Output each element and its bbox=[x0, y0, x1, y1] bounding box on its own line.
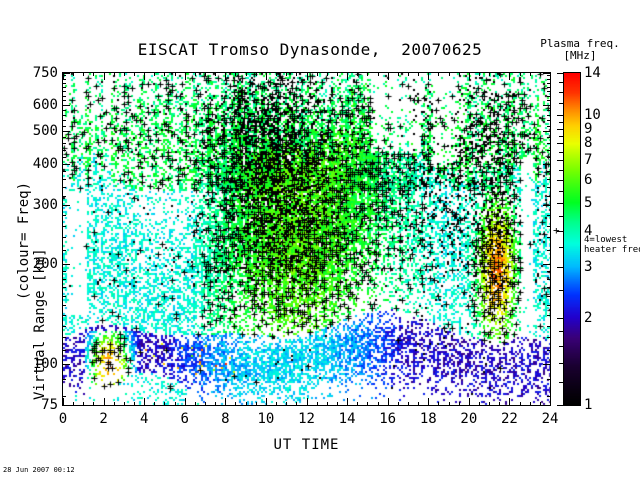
y-tick-minor bbox=[62, 396, 66, 397]
x-tick-major-top bbox=[428, 72, 429, 80]
x-tick-minor bbox=[408, 402, 409, 406]
x-tick-minor bbox=[520, 402, 521, 406]
y-tick-major-right bbox=[543, 264, 551, 265]
x-tick-minor bbox=[175, 402, 176, 406]
y-tick-minor-right bbox=[547, 250, 551, 251]
colorbar-tick bbox=[557, 180, 563, 181]
y-tick-major bbox=[62, 131, 70, 132]
y-tick-minor bbox=[62, 350, 66, 351]
y-tick-minor bbox=[62, 126, 66, 127]
y-tick-label: 200 bbox=[0, 256, 58, 272]
y-tick-minor-right bbox=[547, 179, 551, 180]
y-tick-minor-right bbox=[547, 379, 551, 380]
y-tick-major bbox=[62, 264, 70, 265]
x-tick-major-top bbox=[509, 72, 510, 80]
y-tick-minor bbox=[62, 379, 66, 380]
y-tick-minor-right bbox=[547, 143, 551, 144]
colorbar-tick-label: 6 bbox=[584, 172, 592, 188]
colorbar-tick bbox=[557, 405, 563, 406]
x-tick-major-top bbox=[266, 72, 267, 80]
heater-note-line1: 4=lowest bbox=[584, 236, 627, 245]
x-tick-minor-top bbox=[367, 72, 368, 76]
x-tick-label: 10 bbox=[257, 411, 274, 427]
x-tick-minor-top bbox=[499, 72, 500, 76]
y-tick-minor bbox=[62, 287, 66, 288]
y-tick-minor-right bbox=[547, 137, 551, 138]
y-tick-minor bbox=[62, 83, 66, 84]
colorbar-tick-label: 9 bbox=[584, 121, 592, 137]
y-tick-minor-right bbox=[547, 157, 551, 158]
colorbar-tick-minor bbox=[559, 152, 563, 153]
heater-freq-marker-icon: + bbox=[553, 226, 560, 235]
x-tick-minor bbox=[134, 402, 135, 406]
y-tick-label: 75 bbox=[0, 397, 58, 413]
colorbar-tick bbox=[557, 203, 563, 204]
x-tick-label: 0 bbox=[59, 411, 67, 427]
colorbar-tick bbox=[557, 115, 563, 116]
colorbar-tick-minor bbox=[559, 331, 563, 332]
colorbar-tick bbox=[557, 73, 563, 74]
x-tick-minor bbox=[93, 402, 94, 406]
colorbar-tick-minor bbox=[559, 103, 563, 104]
y-tick-major-right bbox=[543, 164, 551, 165]
x-tick-minor-top bbox=[124, 72, 125, 76]
x-tick-minor bbox=[276, 402, 277, 406]
y-tick-minor bbox=[62, 315, 66, 316]
x-tick-minor bbox=[286, 402, 287, 406]
x-tick-minor bbox=[195, 402, 196, 406]
x-tick-label: 24 bbox=[542, 411, 559, 427]
colorbar-tick-label: 14 bbox=[584, 65, 601, 81]
y-tick-minor-right bbox=[547, 326, 551, 327]
y-tick-label: 300 bbox=[0, 197, 58, 213]
x-tick-minor-top bbox=[235, 72, 236, 76]
x-tick-minor-top bbox=[296, 72, 297, 76]
colorbar-tick-label: 1 bbox=[584, 397, 592, 413]
x-tick-minor-top bbox=[83, 72, 84, 76]
colorbar-tick-minor bbox=[559, 136, 563, 137]
y-tick-minor bbox=[62, 75, 66, 76]
x-tick-major-top bbox=[307, 72, 308, 80]
x-tick-minor-top bbox=[479, 72, 480, 76]
x-tick-label: 18 bbox=[420, 411, 437, 427]
y-tick-minor bbox=[62, 96, 66, 97]
x-tick-minor bbox=[378, 402, 379, 406]
colorbar-tick-label: 8 bbox=[584, 135, 592, 151]
x-tick-minor-top bbox=[540, 72, 541, 76]
y-tick-minor-right bbox=[547, 87, 551, 88]
y-tick-minor-right bbox=[547, 350, 551, 351]
y-tick-minor-right bbox=[547, 396, 551, 397]
x-tick-minor bbox=[398, 402, 399, 406]
y-tick-minor bbox=[62, 157, 66, 158]
x-tick-minor bbox=[83, 402, 84, 406]
x-tick-minor-top bbox=[154, 72, 155, 76]
x-tick-minor bbox=[327, 402, 328, 406]
x-tick-minor-top bbox=[215, 72, 216, 76]
heater-note-line2: heater freq. bbox=[584, 246, 640, 255]
y-tick-label: 750 bbox=[0, 65, 58, 81]
colorbar-tick-minor bbox=[559, 290, 563, 291]
y-tick-minor-right bbox=[547, 96, 551, 97]
y-tick-minor bbox=[62, 79, 66, 80]
y-tick-minor bbox=[62, 120, 66, 121]
x-tick-major-top bbox=[185, 72, 186, 80]
y-tick-major-right bbox=[543, 105, 551, 106]
x-tick-minor bbox=[489, 402, 490, 406]
x-tick-minor bbox=[357, 402, 358, 406]
colorbar[interactable] bbox=[563, 72, 581, 406]
y-tick-minor-right bbox=[547, 83, 551, 84]
colorbar-tick-minor bbox=[559, 216, 563, 217]
x-tick-minor-top bbox=[489, 72, 490, 76]
x-tick-minor bbox=[367, 402, 368, 406]
x-tick-label: 8 bbox=[221, 411, 229, 427]
y-tick-minor-right bbox=[547, 296, 551, 297]
colorbar-tick-minor bbox=[559, 122, 563, 123]
y-tick-minor bbox=[62, 215, 66, 216]
colorbar-tick-minor bbox=[559, 82, 563, 83]
colorbar-title: Plasma freq. [MHz] bbox=[521, 38, 639, 62]
x-tick-minor bbox=[479, 402, 480, 406]
x-tick-minor-top bbox=[195, 72, 196, 76]
x-tick-minor-top bbox=[408, 72, 409, 76]
y-tick-minor bbox=[62, 296, 66, 297]
x-tick-minor-top bbox=[73, 72, 74, 76]
x-tick-minor-top bbox=[327, 72, 328, 76]
y-tick-minor bbox=[62, 187, 66, 188]
y-tick-minor-right bbox=[547, 171, 551, 172]
x-tick-label: 22 bbox=[501, 411, 518, 427]
x-tick-minor bbox=[499, 402, 500, 406]
x-tick-minor bbox=[418, 402, 419, 406]
x-tick-minor-top bbox=[530, 72, 531, 76]
colorbar-tick-label: 2 bbox=[584, 310, 592, 326]
y-tick-minor-right bbox=[547, 337, 551, 338]
colorbar-tick bbox=[557, 318, 563, 319]
x-tick-minor bbox=[164, 402, 165, 406]
x-tick-minor-top bbox=[114, 72, 115, 76]
colorbar-tick-label: 3 bbox=[584, 259, 592, 275]
x-tick-major bbox=[144, 398, 145, 406]
x-tick-label: 14 bbox=[339, 411, 356, 427]
x-tick-label: 6 bbox=[181, 411, 189, 427]
y-tick-minor-right bbox=[547, 305, 551, 306]
y-tick-major bbox=[62, 73, 70, 74]
y-tick-minor-right bbox=[547, 110, 551, 111]
y-tick-minor bbox=[62, 271, 66, 272]
colorbar-tick bbox=[557, 143, 563, 144]
y-tick-minor bbox=[62, 91, 66, 92]
y-tick-major-right bbox=[543, 405, 551, 406]
y-tick-label: 500 bbox=[0, 123, 58, 139]
colorbar-tick-label: 5 bbox=[584, 195, 592, 211]
y-tick-minor-right bbox=[547, 215, 551, 216]
x-tick-minor-top bbox=[205, 72, 206, 76]
y-tick-minor-right bbox=[547, 100, 551, 101]
x-tick-minor bbox=[246, 402, 247, 406]
x-tick-label: 20 bbox=[460, 411, 477, 427]
y-tick-minor bbox=[62, 150, 66, 151]
y-tick-minor-right bbox=[547, 115, 551, 116]
y-tick-minor-right bbox=[547, 79, 551, 80]
x-tick-major bbox=[469, 398, 470, 406]
x-tick-minor-top bbox=[398, 72, 399, 76]
render-timestamp: 28 Jun 2007 00:12 bbox=[3, 466, 75, 474]
ionogram-plot-area[interactable] bbox=[62, 72, 551, 406]
x-tick-minor-top bbox=[286, 72, 287, 76]
x-tick-minor-top bbox=[93, 72, 94, 76]
x-tick-minor-top bbox=[357, 72, 358, 76]
x-tick-label: 2 bbox=[99, 411, 107, 427]
y-tick-minor bbox=[62, 196, 66, 197]
y-tick-minor bbox=[62, 326, 66, 327]
y-tick-minor bbox=[62, 87, 66, 88]
y-tick-minor bbox=[62, 143, 66, 144]
colorbar-tick bbox=[557, 129, 563, 130]
x-tick-minor bbox=[459, 402, 460, 406]
y-tick-minor-right bbox=[547, 75, 551, 76]
colorbar-tick-minor bbox=[559, 191, 563, 192]
x-tick-minor-top bbox=[378, 72, 379, 76]
y-tick-major-right bbox=[543, 364, 551, 365]
x-tick-minor bbox=[449, 402, 450, 406]
y-tick-minor-right bbox=[547, 271, 551, 272]
y-tick-minor-right bbox=[547, 226, 551, 227]
x-tick-minor bbox=[530, 402, 531, 406]
x-tick-label: 16 bbox=[379, 411, 396, 427]
y-tick-major-right bbox=[543, 73, 551, 74]
y-tick-minor bbox=[62, 237, 66, 238]
y-tick-major-right bbox=[543, 131, 551, 132]
x-tick-minor bbox=[235, 402, 236, 406]
x-axis-title: UT TIME bbox=[62, 437, 551, 453]
y-tick-minor-right bbox=[547, 91, 551, 92]
x-tick-minor bbox=[256, 402, 257, 406]
x-tick-minor bbox=[114, 402, 115, 406]
heatmap-canvas bbox=[63, 73, 551, 406]
x-tick-major-top bbox=[225, 72, 226, 80]
x-tick-major bbox=[347, 398, 348, 406]
y-tick-minor-right bbox=[547, 237, 551, 238]
x-tick-minor bbox=[205, 402, 206, 406]
colorbar-tick-minor bbox=[559, 92, 563, 93]
x-tick-label: 4 bbox=[140, 411, 148, 427]
x-tick-major bbox=[225, 398, 226, 406]
x-tick-minor bbox=[296, 402, 297, 406]
x-tick-minor-top bbox=[256, 72, 257, 76]
y-tick-minor bbox=[62, 305, 66, 306]
dynasonde-plot-page: EISCAT Tromso Dynasonde, 20070625 Virtua… bbox=[0, 0, 640, 480]
x-tick-major-top bbox=[388, 72, 389, 80]
y-tick-minor-right bbox=[547, 287, 551, 288]
x-tick-major bbox=[307, 398, 308, 406]
colorbar-tick bbox=[557, 267, 563, 268]
x-tick-minor-top bbox=[164, 72, 165, 76]
x-tick-minor-top bbox=[134, 72, 135, 76]
y-tick-minor bbox=[62, 179, 66, 180]
x-tick-minor bbox=[73, 402, 74, 406]
x-tick-minor bbox=[540, 402, 541, 406]
x-tick-minor-top bbox=[175, 72, 176, 76]
x-tick-minor-top bbox=[337, 72, 338, 76]
x-tick-minor-top bbox=[520, 72, 521, 76]
y-tick-major-right bbox=[543, 205, 551, 206]
y-tick-minor-right bbox=[547, 150, 551, 151]
x-tick-minor bbox=[215, 402, 216, 406]
y-tick-label: 600 bbox=[0, 97, 58, 113]
x-tick-minor-top bbox=[459, 72, 460, 76]
x-tick-minor-top bbox=[438, 72, 439, 76]
x-tick-major bbox=[388, 398, 389, 406]
y-tick-minor-right bbox=[547, 279, 551, 280]
colorbar-tick-minor bbox=[559, 247, 563, 248]
x-tick-minor bbox=[317, 402, 318, 406]
colorbar-tick-minor bbox=[559, 382, 563, 383]
x-tick-minor bbox=[124, 402, 125, 406]
plot-canvas-wrap bbox=[63, 73, 550, 405]
y-tick-minor bbox=[62, 226, 66, 227]
y-tick-minor bbox=[62, 115, 66, 116]
x-tick-minor bbox=[337, 402, 338, 406]
x-tick-label: 12 bbox=[298, 411, 315, 427]
y-tick-label: 100 bbox=[0, 356, 58, 372]
colorbar-tick-label: 7 bbox=[584, 152, 592, 168]
x-tick-minor bbox=[438, 402, 439, 406]
x-tick-minor-top bbox=[317, 72, 318, 76]
x-tick-minor-top bbox=[418, 72, 419, 76]
colorbar-canvas bbox=[564, 73, 580, 405]
x-tick-minor bbox=[154, 402, 155, 406]
y-tick-major bbox=[62, 405, 70, 406]
colorbar-tick-minor bbox=[559, 346, 563, 347]
y-tick-minor-right bbox=[547, 187, 551, 188]
y-tick-major bbox=[62, 364, 70, 365]
colorbar-tick-minor bbox=[559, 170, 563, 171]
x-tick-major bbox=[428, 398, 429, 406]
y-tick-minor bbox=[62, 137, 66, 138]
x-tick-major-top bbox=[104, 72, 105, 80]
y-tick-minor bbox=[62, 250, 66, 251]
x-tick-major bbox=[509, 398, 510, 406]
y-tick-minor bbox=[62, 337, 66, 338]
y-tick-minor bbox=[62, 110, 66, 111]
x-tick-major-top bbox=[469, 72, 470, 80]
y-tick-major bbox=[62, 164, 70, 165]
colorbar-tick-minor bbox=[559, 363, 563, 364]
y-tick-minor-right bbox=[547, 196, 551, 197]
page-title: EISCAT Tromso Dynasonde, 20070625 bbox=[100, 40, 520, 59]
y-tick-minor bbox=[62, 171, 66, 172]
y-tick-minor bbox=[62, 100, 66, 101]
colorbar-tick bbox=[557, 160, 563, 161]
x-tick-minor-top bbox=[246, 72, 247, 76]
x-tick-minor-top bbox=[276, 72, 277, 76]
y-tick-minor-right bbox=[547, 126, 551, 127]
y-tick-minor-right bbox=[547, 315, 551, 316]
y-tick-major bbox=[62, 205, 70, 206]
colorbar-title-line2: [MHz] bbox=[521, 50, 639, 62]
y-tick-minor-right bbox=[547, 120, 551, 121]
x-tick-minor-top bbox=[449, 72, 450, 76]
x-tick-major-top bbox=[144, 72, 145, 80]
x-tick-major bbox=[104, 398, 105, 406]
x-tick-major bbox=[266, 398, 267, 406]
x-tick-major bbox=[185, 398, 186, 406]
y-tick-minor bbox=[62, 279, 66, 280]
y-tick-label: 400 bbox=[0, 156, 58, 172]
x-tick-major-top bbox=[347, 72, 348, 80]
y-tick-major bbox=[62, 105, 70, 106]
